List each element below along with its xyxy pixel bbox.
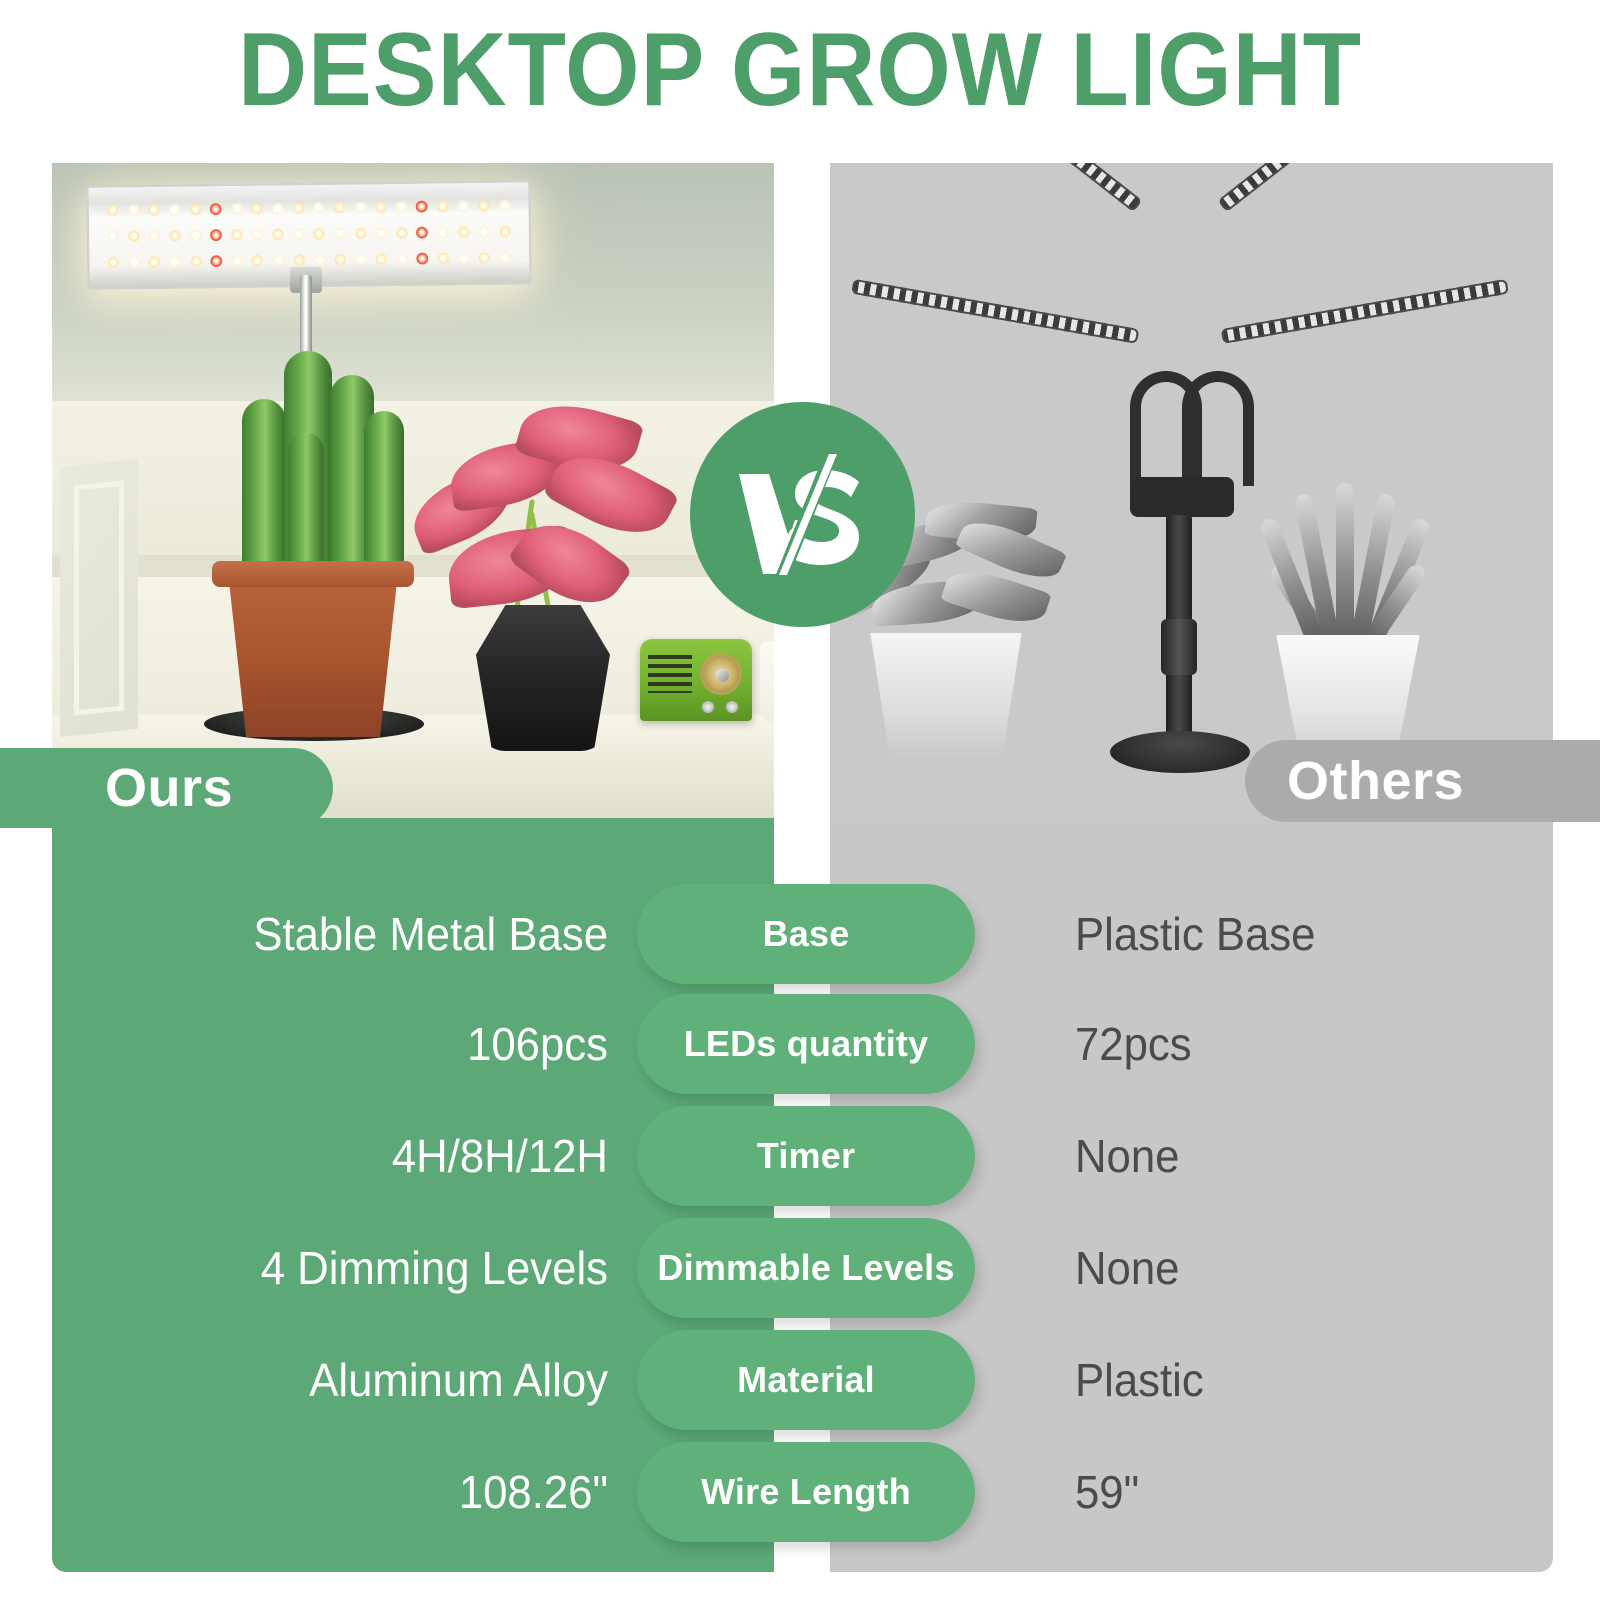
feature-label: Material <box>737 1359 875 1401</box>
table-row: 4H/8H/12H Timer None <box>0 1100 1600 1212</box>
ours-value: Aluminum Alloy <box>154 1352 608 1408</box>
others-value: Plastic Base <box>1075 906 1512 962</box>
table-row: 108.26" Wire Length 59" <box>0 1436 1600 1548</box>
gooseneck-hub <box>1130 477 1234 517</box>
table-row: Aluminum Alloy Material Plastic <box>0 1324 1600 1436</box>
led-row <box>107 223 511 246</box>
vs-icon <box>733 452 873 577</box>
feature-label: Wire Length <box>701 1471 911 1513</box>
others-value: 72pcs <box>1075 1016 1512 1072</box>
others-product-photo <box>830 163 1553 818</box>
ours-label-badge: Ours <box>0 748 333 828</box>
table-row: Stable Metal Base Base Plastic Base <box>0 878 1600 990</box>
gooseneck-light-arm <box>1221 279 1509 344</box>
radio-dial-icon <box>700 653 742 695</box>
others-label-text: Others <box>1287 750 1464 812</box>
gooseneck-light-arm <box>1217 163 1431 212</box>
gooseneck-light-arm <box>928 163 1142 212</box>
ours-value: 4 Dimming Levels <box>154 1240 608 1296</box>
photo-picture-frame <box>60 459 138 737</box>
feature-label: Base <box>763 913 850 955</box>
others-value: 59" <box>1075 1464 1512 1520</box>
radio-knob <box>702 701 714 713</box>
gooseneck-cable <box>1182 371 1254 486</box>
feature-pill: Base <box>637 884 975 984</box>
others-value: None <box>1075 1240 1512 1296</box>
plastic-base-icon <box>1110 731 1250 773</box>
radio-knob <box>726 701 738 713</box>
white-pot-left <box>860 633 1032 765</box>
retro-radio <box>640 639 752 721</box>
led-row <box>107 197 511 220</box>
feature-label: Dimmable Levels <box>657 1247 954 1289</box>
feature-pill: Timer <box>637 1106 975 1206</box>
photo-shelf-back <box>52 401 774 561</box>
cactus-stem <box>364 411 404 579</box>
ours-value: 106pcs <box>154 1016 608 1072</box>
ours-value: 4H/8H/12H <box>154 1128 608 1184</box>
page-title: DESKTOP GROW LIGHT <box>64 10 1536 130</box>
cactus-stem <box>242 399 286 579</box>
cactus-stem <box>288 433 324 579</box>
others-value: None <box>1075 1128 1512 1184</box>
reed-diffuser-bottle <box>760 641 774 723</box>
feature-label: Timer <box>757 1135 855 1177</box>
radio-speaker-grill <box>648 655 692 693</box>
ours-value: 108.26" <box>154 1464 608 1520</box>
ours-product-photo <box>52 163 774 818</box>
table-row: 106pcs LEDs quantity 72pcs <box>0 988 1600 1100</box>
black-ceramic-vase <box>476 605 610 751</box>
terracotta-pot <box>220 567 406 737</box>
feature-pill: Material <box>637 1330 975 1430</box>
gooseneck-light-arm <box>851 279 1139 344</box>
comparison-rows: Stable Metal Base Base Plastic Base 106p… <box>0 818 1600 1572</box>
table-row: 4 Dimming Levels Dimmable Levels None <box>0 1212 1600 1324</box>
pole-joint <box>1161 619 1197 675</box>
others-label-badge: Others <box>1245 740 1600 822</box>
feature-label: LEDs quantity <box>684 1023 929 1065</box>
feature-pill: Dimmable Levels <box>637 1218 975 1318</box>
feature-pill: Wire Length <box>637 1442 975 1542</box>
ours-value: Stable Metal Base <box>154 906 608 962</box>
others-value: Plastic <box>1075 1352 1512 1408</box>
comparison-table: Stable Metal Base Base Plastic Base 106p… <box>0 818 1600 1574</box>
ours-label-text: Ours <box>105 757 233 819</box>
vs-badge <box>690 402 915 627</box>
terracotta-pot-rim <box>212 561 414 587</box>
feature-pill: LEDs quantity <box>637 994 975 1094</box>
succulent-leaf <box>1336 483 1354 645</box>
